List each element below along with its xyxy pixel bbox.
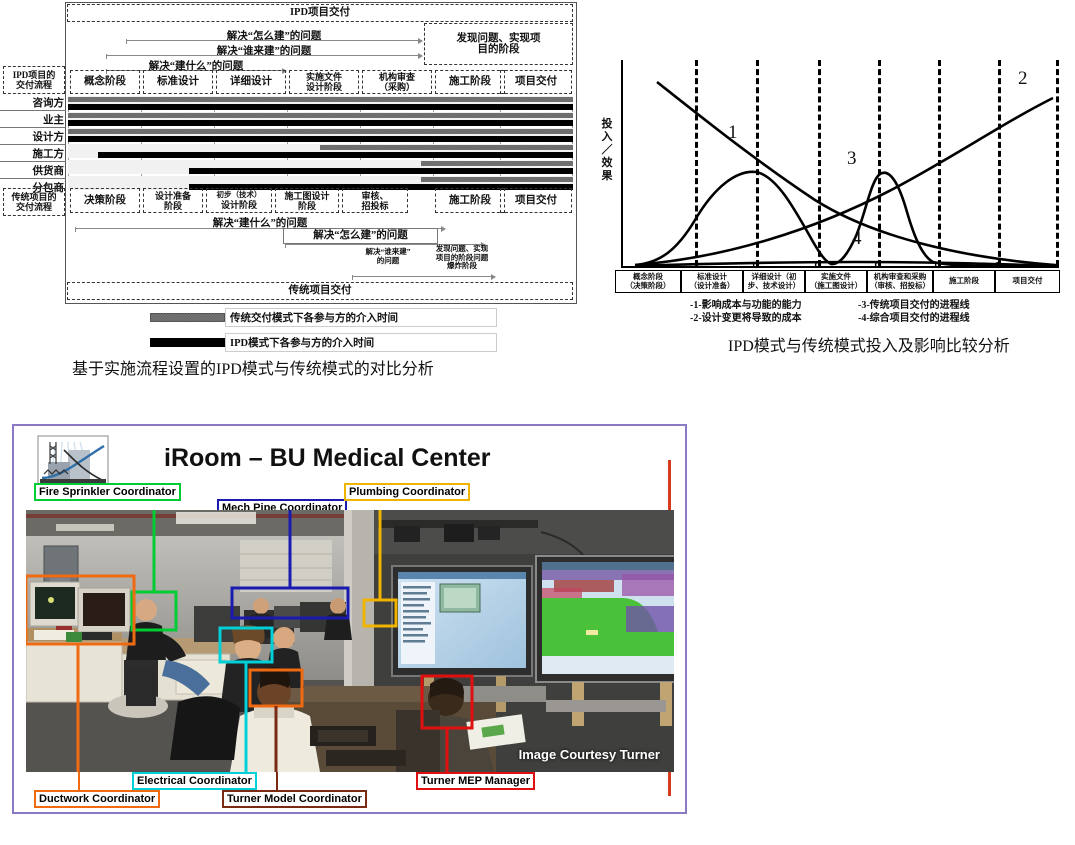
iroom-photo-panel: iRoom – BU Medical Center Fire Sprinkler… bbox=[12, 424, 687, 814]
figure2-legend-1: -1-影响成本与功能的能力 bbox=[690, 299, 802, 312]
curve-label-1: 1 bbox=[728, 122, 738, 144]
trad-process-header-line2: 交付流程 bbox=[16, 202, 52, 212]
tag-plumbing-coordinator[interactable]: Plumbing Coordinator bbox=[344, 483, 470, 501]
tag-fire-sprinkler-coordinator[interactable]: Fire Sprinkler Coordinator bbox=[34, 483, 181, 501]
figure-ipd-vs-traditional-process: IPD项目交付 发现问题、实现项 目的阶段 解决“怎么建”的问题 解决“谁来建”… bbox=[0, 0, 585, 390]
bar-traditional-1 bbox=[68, 113, 573, 118]
image-courtesy-label: Image Courtesy Turner bbox=[519, 747, 660, 762]
figure2-xcat-0: 概念阶段 （决策阶段） bbox=[615, 270, 681, 293]
curve-label-4: 4 bbox=[852, 228, 862, 250]
ipd-process-header-line2: 交付流程 bbox=[16, 80, 52, 90]
iroom-photograph: Image Courtesy Turner bbox=[26, 510, 674, 772]
trad-phase-1: 设计准备 阶段 bbox=[143, 188, 203, 213]
ipd-phase-0: 概念阶段 bbox=[70, 70, 140, 94]
curve-4-integrated-process bbox=[635, 262, 1058, 266]
trad-phase-0: 决策阶段 bbox=[70, 188, 140, 213]
traditional-process-header: 传统项目的 交付流程 bbox=[3, 188, 65, 216]
figure2-ylabel: 投 入 ／ 效 果 bbox=[600, 118, 614, 183]
participant-label-4: 供货商 bbox=[33, 163, 65, 178]
bar-traditional-3 bbox=[320, 145, 573, 150]
trad-phase-4: 审核、 招投标 bbox=[342, 188, 408, 213]
discover-realize-line1: 发现问题、实现项 bbox=[457, 33, 541, 45]
tag-turner-model-coordinator[interactable]: Turner Model Coordinator bbox=[222, 790, 367, 808]
bar-traditional-5 bbox=[421, 177, 573, 182]
bottom-arrow-label-how-to-build: 解决“怎么建”的问题 bbox=[283, 228, 438, 244]
tag-electrical-coordinator[interactable]: Electrical Coordinator bbox=[132, 772, 257, 790]
bar-ipd-0 bbox=[68, 104, 573, 110]
figure2-legend-4: -4-综合项目交付的进程线 bbox=[858, 312, 970, 325]
ipd-process-header-line1: IPD项目的 bbox=[13, 70, 56, 80]
trad-phase-2: 初步（技术） 设计阶段 bbox=[206, 188, 272, 213]
curve-2-change-cost bbox=[635, 98, 1053, 265]
bar-ipd-4 bbox=[189, 168, 573, 174]
page-title: iRoom – BU Medical Center bbox=[164, 444, 490, 473]
ipd-phase-6: 项目交付 bbox=[500, 70, 572, 94]
traditional-delivery-band-label: 传统项目交付 bbox=[289, 285, 352, 297]
ipd-delivery-band-label: IPD项目交付 bbox=[290, 7, 350, 19]
curve-3-traditional-process bbox=[635, 172, 1058, 266]
participant-label-2: 设计方 bbox=[33, 129, 65, 144]
ipd-phase-2: 详细设计 bbox=[216, 70, 286, 94]
figure2-xcat-4: 机构审查和采购 （审核、招投标） bbox=[867, 270, 933, 293]
ipd-phase-5: 施工阶段 bbox=[435, 70, 505, 94]
figure2-xcat-3: 实施文件 （施工图设计） bbox=[805, 270, 867, 293]
bar-traditional-0 bbox=[68, 97, 573, 102]
trad-phase-3: 施工图设计 阶段 bbox=[275, 188, 339, 213]
traditional-delivery-band: 传统项目交付 bbox=[67, 282, 573, 300]
bar-ipd-1 bbox=[68, 120, 573, 126]
curve-label-2: 2 bbox=[1018, 68, 1028, 90]
figure2-legend-2: -2-设计变更将导致的成本 bbox=[690, 312, 802, 325]
ipd-delivery-band: IPD项目交付 bbox=[67, 4, 573, 22]
discover-realize-line2: 目的阶段 bbox=[478, 44, 520, 56]
participant-labels: 咨询方 业主 设计方 施工方 供货商 分包商 bbox=[0, 94, 66, 195]
bar-traditional-2 bbox=[68, 129, 573, 134]
legend-label-ipd: IPD模式下各参与方的介入时间 bbox=[225, 333, 497, 352]
trad-process-header-line1: 传统项目的 bbox=[11, 192, 56, 202]
ipd-phase-4: 机构审查 （采购） bbox=[362, 70, 432, 94]
figure2-caption: IPD模式与传统模式投入及影响比较分析 bbox=[728, 332, 1010, 356]
figure2-xcat-1: 标准设计 （设计准备） bbox=[681, 270, 743, 293]
figure2-plot: 1 2 3 4 bbox=[615, 60, 1060, 290]
tag-turner-mep-manager[interactable]: Turner MEP Manager bbox=[416, 772, 535, 790]
figure-investment-impact-curves: 投 入 ／ 效 果 bbox=[600, 40, 1070, 370]
participant-bars-area bbox=[68, 96, 573, 190]
figure2-curves-svg bbox=[615, 60, 1060, 270]
bar-ipd-2 bbox=[68, 136, 573, 142]
figure2-xcat-5: 施工阶段 bbox=[933, 270, 995, 293]
figure1-caption: 基于实施流程设置的IPD模式与传统模式的对比分析 bbox=[72, 355, 434, 379]
company-logo bbox=[34, 434, 112, 490]
trad-phase-5: 施工阶段 bbox=[435, 188, 505, 213]
figure2-xcat-6: 项目交付 bbox=[995, 270, 1060, 293]
discover-realize-box: 发现问题、实现项 目的阶段 bbox=[424, 23, 573, 65]
legend-swatch-traditional bbox=[150, 313, 225, 322]
bar-ipd-3 bbox=[98, 152, 573, 158]
curve-label-3: 3 bbox=[847, 148, 857, 170]
bottom-arrow-explode bbox=[352, 276, 495, 277]
participant-label-1: 业主 bbox=[43, 112, 64, 127]
trad-phase-6: 项目交付 bbox=[500, 188, 572, 213]
bottom-box-who-builds: 解决“谁来建” 的问题 bbox=[352, 248, 424, 265]
ipd-phase-3: 实施文件 设计阶段 bbox=[289, 70, 359, 94]
ipd-process-header: IPD项目的 交付流程 bbox=[3, 66, 65, 94]
ipd-phase-1: 标准设计 bbox=[143, 70, 213, 94]
figure2-legend-3: -3-传统项目交付的进程线 bbox=[858, 299, 970, 312]
legend-label-traditional: 传统交付模式下各参与方的介入时间 bbox=[225, 308, 497, 327]
tag-ductwork-coordinator[interactable]: Ductwork Coordinator bbox=[34, 790, 160, 808]
participant-label-0: 咨询方 bbox=[33, 95, 65, 110]
bottom-box-discover-realize: 发现问题、实现 项目的阶段问题 爆炸阶段 bbox=[424, 245, 500, 271]
bar-traditional-4 bbox=[421, 161, 573, 166]
figure2-xcat-2: 详细设计（初 步、技术设计） bbox=[743, 270, 805, 293]
participant-label-3: 施工方 bbox=[33, 146, 65, 161]
legend-swatch-ipd bbox=[150, 338, 225, 347]
